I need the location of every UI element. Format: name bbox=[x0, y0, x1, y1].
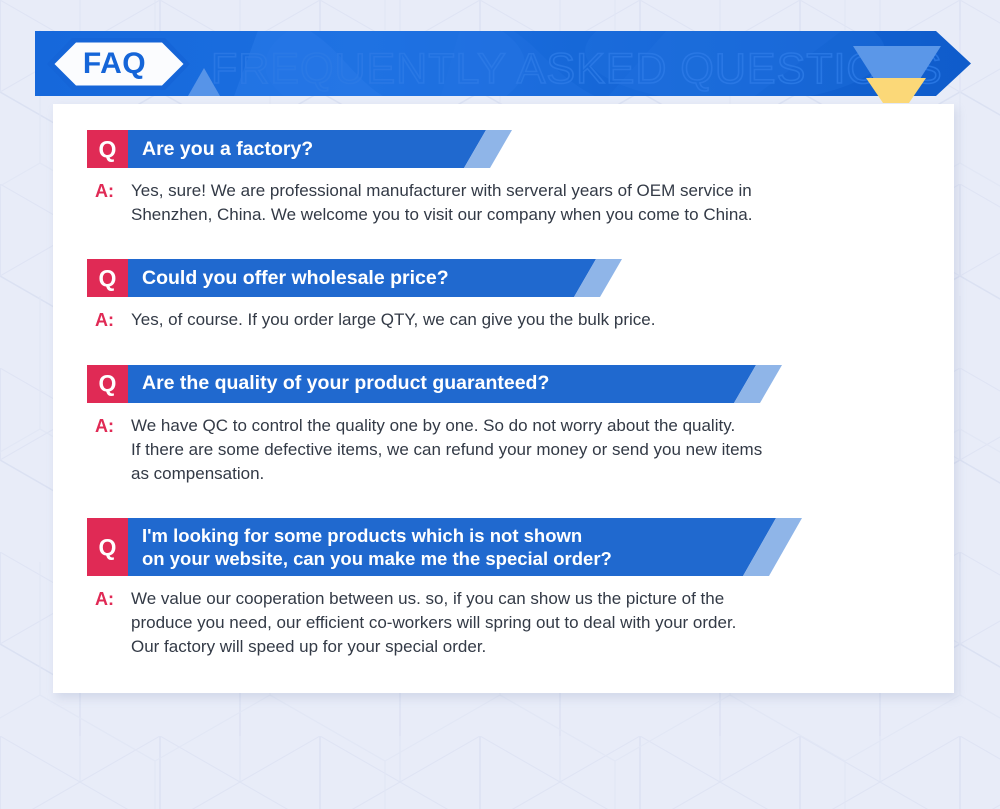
triangle-down-small-icon bbox=[866, 78, 926, 103]
faq-item-2: Q Could you offer wholesale price? A: Ye… bbox=[53, 259, 954, 334]
question-row-1[interactable]: Q Are you a factory? bbox=[87, 130, 954, 168]
question-marker-4: Q bbox=[87, 518, 128, 576]
faq-card: Q Are you a factory? A: Yes, sure! We ar… bbox=[53, 104, 954, 693]
answer-marker-2: A: bbox=[95, 308, 131, 334]
answer-row-3: A: We have QC to control the quality one… bbox=[95, 414, 954, 486]
question-line: Could you offer wholesale price? bbox=[142, 267, 449, 290]
question-line: Are you a factory? bbox=[142, 138, 313, 161]
question-line: on your website, can you make me the spe… bbox=[142, 547, 612, 571]
answer-marker-1: A: bbox=[95, 179, 131, 205]
answer-text-4: We value our cooperation between us. so,… bbox=[131, 587, 954, 659]
faq-badge-label: FAQ bbox=[59, 42, 167, 86]
question-marker-2: Q bbox=[87, 259, 128, 297]
spacer bbox=[53, 334, 954, 365]
question-marker-1: Q bbox=[87, 130, 128, 168]
question-row-4[interactable]: Q I'm looking for some products which is… bbox=[87, 518, 954, 576]
question-marker-3: Q bbox=[87, 365, 128, 403]
question-row-3[interactable]: Q Are the quality of your product guaran… bbox=[87, 365, 954, 403]
question-line: Are the quality of your product guarante… bbox=[142, 372, 549, 395]
answer-marker-3: A: bbox=[95, 414, 131, 440]
faq-item-1: Q Are you a factory? A: Yes, sure! We ar… bbox=[53, 130, 954, 227]
answer-row-2: A: Yes, of course. If you order large QT… bbox=[95, 308, 954, 334]
answer-marker-4: A: bbox=[95, 587, 131, 613]
answer-row-4: A: We value our cooperation between us. … bbox=[95, 587, 954, 659]
question-text-1: Are you a factory? bbox=[142, 130, 313, 168]
faq-item-4: Q I'm looking for some products which is… bbox=[53, 518, 954, 659]
spacer bbox=[53, 486, 954, 518]
answer-text-1: Yes, sure! We are professional manufactu… bbox=[131, 179, 954, 227]
answer-text-2: Yes, of course. If you order large QTY, … bbox=[131, 308, 954, 332]
spacer bbox=[53, 227, 954, 259]
question-line: I'm looking for some products which is n… bbox=[142, 524, 612, 548]
answer-text-3: We have QC to control the quality one by… bbox=[131, 414, 954, 486]
faq-item-3: Q Are the quality of your product guaran… bbox=[53, 365, 954, 486]
question-text-2: Could you offer wholesale price? bbox=[142, 259, 449, 297]
question-text-4: I'm looking for some products which is n… bbox=[142, 518, 612, 576]
header-watermark: FREQUENTLY ASKED QUESTIONS bbox=[211, 45, 943, 93]
header-banner: FREQUENTLY ASKED QUESTIONS bbox=[35, 31, 971, 96]
question-text-3: Are the quality of your product guarante… bbox=[142, 365, 549, 403]
answer-row-1: A: Yes, sure! We are professional manufa… bbox=[95, 179, 954, 227]
question-row-2[interactable]: Q Could you offer wholesale price? bbox=[87, 259, 954, 297]
